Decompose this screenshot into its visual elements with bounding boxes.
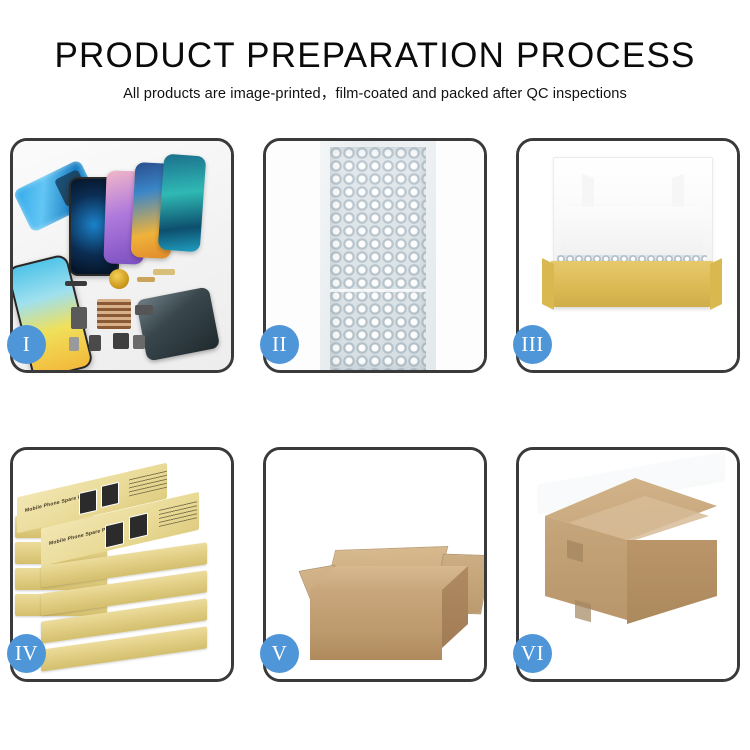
kraft-box-tray xyxy=(551,261,713,307)
phone-screen-teal xyxy=(158,154,207,253)
spare-part xyxy=(113,333,129,349)
box-thumbnail xyxy=(129,513,148,540)
panel-5-image xyxy=(266,450,484,679)
step-badge-1: I xyxy=(7,325,46,364)
box-spec-lines xyxy=(129,470,167,497)
header: PRODUCT PREPARATION PROCESS All products… xyxy=(0,36,750,103)
spare-part xyxy=(65,281,87,286)
copper-coil-part xyxy=(109,269,129,289)
spare-part xyxy=(137,277,155,282)
page-title: PRODUCT PREPARATION PROCESS xyxy=(0,36,750,76)
panel-3-image xyxy=(519,141,737,370)
carton-front-face xyxy=(310,590,442,660)
box-thumbnail xyxy=(105,521,124,548)
carton-body xyxy=(310,536,468,660)
panel-6-image xyxy=(519,450,737,679)
open-kraft-box-scene xyxy=(519,141,737,370)
process-step-panel-5[interactable]: V xyxy=(263,447,487,682)
carton-seam-lower xyxy=(575,600,591,623)
process-step-panel-4[interactable]: Mobile Phone Spare Parts Mobile Phone Sp… xyxy=(10,447,234,682)
panel-1-image xyxy=(13,141,231,370)
spare-part xyxy=(69,337,79,351)
process-steps-grid: I II xyxy=(10,138,740,682)
process-step-panel-2[interactable]: II xyxy=(263,138,487,373)
spare-part xyxy=(71,307,87,329)
spare-part xyxy=(135,305,153,315)
phone-parts-scene xyxy=(13,141,231,370)
step-badge-5: V xyxy=(260,634,299,673)
sealed-carton-scene xyxy=(519,450,737,679)
panel-2-image xyxy=(266,141,484,370)
spare-part xyxy=(89,335,101,351)
carton-right-face xyxy=(627,540,717,644)
step-badge-6: VI xyxy=(513,634,552,673)
foam-insert xyxy=(561,207,703,259)
bubble-wrap-scene xyxy=(266,141,484,370)
step-badge-2: II xyxy=(260,325,299,364)
connector-grid-part xyxy=(97,299,131,329)
page-subtitle: All products are image-printed，film-coat… xyxy=(0,85,750,103)
bubble-bag-seam xyxy=(330,289,426,292)
box-thumbnail xyxy=(101,482,119,508)
panel-4-image: Mobile Phone Spare Parts Mobile Phone Sp… xyxy=(13,450,231,679)
spare-part xyxy=(153,269,175,275)
process-step-panel-6[interactable]: VI xyxy=(516,447,740,682)
bubble-wrap-bag xyxy=(320,141,436,370)
step-badge-3: III xyxy=(513,325,552,364)
spare-part xyxy=(133,335,145,349)
product-preparation-process-page: PRODUCT PREPARATION PROCESS All products… xyxy=(0,0,750,750)
step-badge-4: IV xyxy=(7,634,46,673)
phone-back-housing xyxy=(136,287,220,362)
stacked-boxes-scene: Mobile Phone Spare Parts Mobile Phone Sp… xyxy=(13,450,231,679)
process-step-panel-1[interactable]: I xyxy=(10,138,234,373)
bubble-pattern xyxy=(330,147,426,370)
box-spec-lines xyxy=(159,500,197,527)
box-thumbnail xyxy=(79,489,97,515)
process-step-panel-3[interactable]: III xyxy=(516,138,740,373)
open-carton-scene xyxy=(266,450,484,679)
